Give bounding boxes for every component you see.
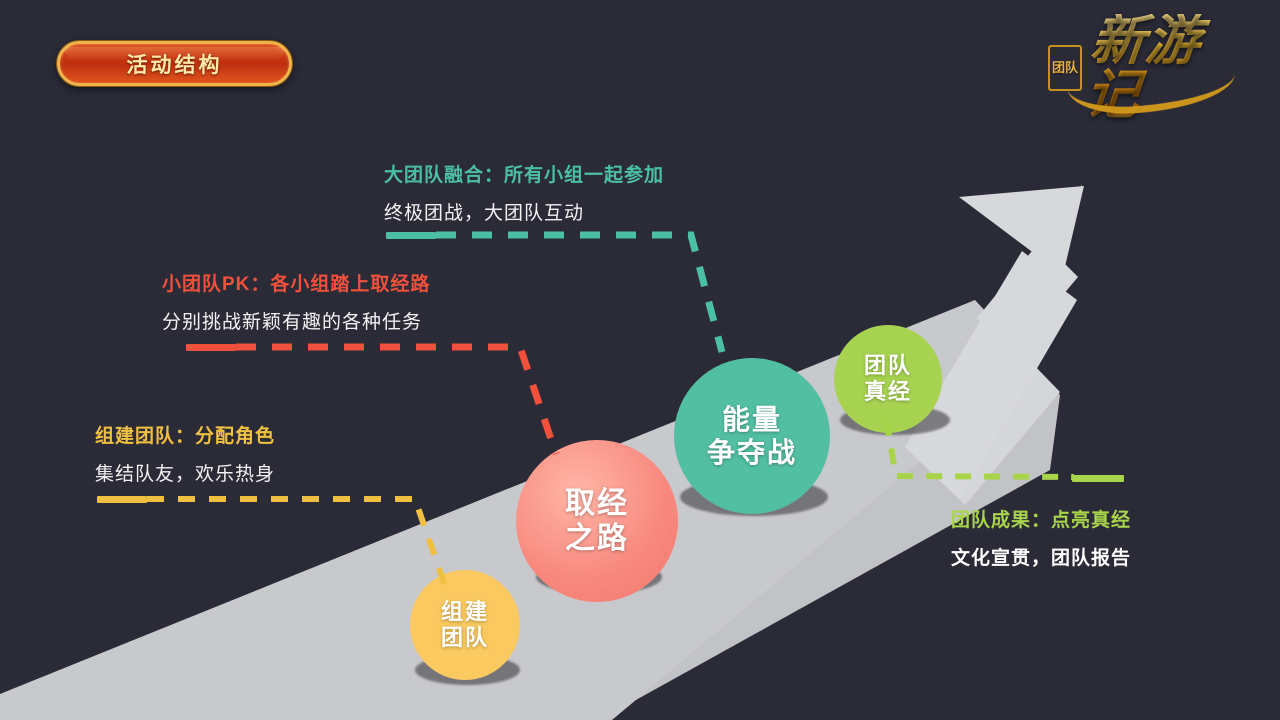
label-build-team-sub: 集结队友，欢乐热身 bbox=[95, 459, 275, 486]
node-journey-path-label: 取经 之路 bbox=[565, 486, 629, 557]
connector-team-result bbox=[880, 420, 1120, 500]
node-team-scripture-line1: 团队 bbox=[864, 353, 912, 378]
connector-build-team bbox=[97, 496, 477, 606]
label-team-result: 团队成果：点亮真经 文化宣贯，团队报告 bbox=[951, 505, 1131, 570]
label-big-team-merge: 大团队融合：所有小组一起参加 终极团战，大团队互动 bbox=[384, 160, 664, 225]
node-journey-path-line1: 取经 bbox=[565, 487, 629, 520]
label-small-team-pk-head: 小团队PK：各小组踏上取经路 bbox=[162, 269, 430, 296]
node-team-scripture-line2: 真经 bbox=[864, 379, 912, 404]
node-energy-battle-line2: 争夺战 bbox=[707, 437, 797, 468]
connector-yellow-path bbox=[147, 499, 445, 586]
label-big-team-merge-head: 大团队融合：所有小组一起参加 bbox=[384, 160, 664, 187]
connector-teal-path bbox=[436, 235, 722, 352]
node-energy-battle-label: 能量 争夺战 bbox=[707, 403, 797, 469]
node-journey-path-line2: 之路 bbox=[565, 522, 629, 555]
node-team-scripture-label: 团队 真经 bbox=[864, 353, 912, 405]
node-build-team-line2: 团队 bbox=[441, 625, 489, 650]
slide-canvas: 活动结构 团队 新游记 组建 团队 取经 之路 bbox=[0, 0, 1280, 720]
label-team-result-head: 团队成果：点亮真经 bbox=[951, 505, 1131, 532]
node-team-scripture[interactable]: 团队 真经 bbox=[834, 325, 942, 433]
label-build-team-head: 组建团队：分配角色 bbox=[95, 421, 275, 448]
label-small-team-pk-sub: 分别挑战新颖有趣的各种任务 bbox=[162, 307, 430, 334]
page-title: 活动结构 bbox=[127, 49, 223, 79]
connector-green-path bbox=[886, 420, 1074, 477]
connector-red-path bbox=[236, 347, 556, 454]
node-build-team-label: 组建 团队 bbox=[441, 599, 489, 651]
label-big-team-merge-sub: 终极团战，大团队互动 bbox=[384, 198, 664, 225]
node-energy-battle-line1: 能量 bbox=[722, 404, 782, 435]
label-small-team-pk: 小团队PK：各小组踏上取经路 分别挑战新颖有趣的各种任务 bbox=[162, 269, 430, 334]
label-team-result-sub: 文化宣贯，团队报告 bbox=[951, 543, 1131, 570]
label-build-team: 组建团队：分配角色 集结队友，欢乐热身 bbox=[95, 421, 275, 486]
